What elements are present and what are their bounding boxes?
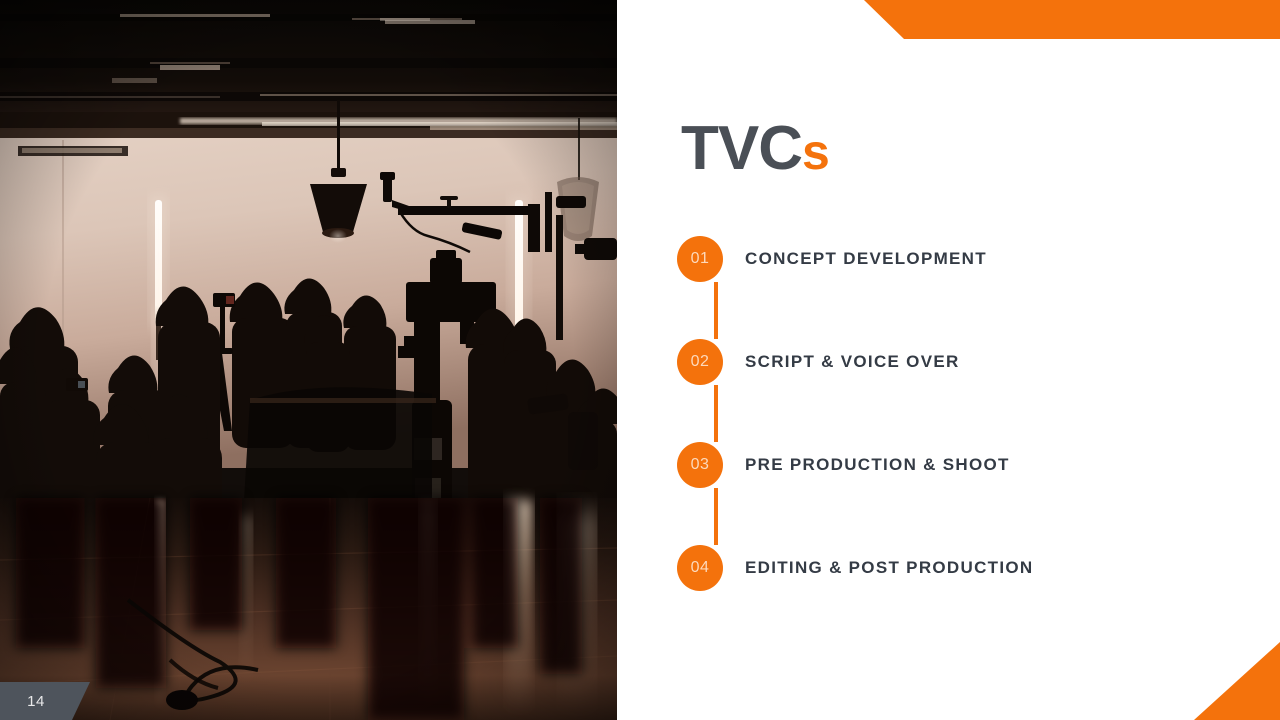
timeline-connector xyxy=(714,488,718,545)
timeline-item-label: SCRIPT & VOICE OVER xyxy=(745,352,960,372)
timeline-item-label: EDITING & POST PRODUCTION xyxy=(745,558,1033,578)
studio-photo xyxy=(0,0,617,720)
orange-angled-banner-icon xyxy=(846,0,1280,39)
timeline-number-badge: 03 xyxy=(677,442,723,488)
timeline-item-01[interactable]: 01 CONCEPT DEVELOPMENT xyxy=(677,236,1267,282)
timeline-item-03[interactable]: 03 PRE PRODUCTION & SHOOT xyxy=(677,442,1267,488)
content-panel: TVCs 01 CONCEPT DEVELOPMENT 02 SCRIPT & … xyxy=(617,0,1280,720)
timeline-connector xyxy=(714,282,718,339)
timeline-item-04[interactable]: 04 EDITING & POST PRODUCTION xyxy=(677,545,1267,591)
timeline-item-label: CONCEPT DEVELOPMENT xyxy=(745,249,987,269)
logo-accent-text: s xyxy=(802,124,829,180)
page-title: TVCs xyxy=(681,118,829,180)
slide-canvas: 14 TVCs 01 CONCEPT DEVELOPMENT 02 SCRIPT… xyxy=(0,0,1280,720)
timeline-connector xyxy=(714,385,718,442)
timeline-item-02[interactable]: 02 SCRIPT & VOICE OVER xyxy=(677,339,1267,385)
timeline-item-label: PRE PRODUCTION & SHOOT xyxy=(745,455,1010,475)
page-number: 14 xyxy=(0,682,72,720)
timeline-number-badge: 01 xyxy=(677,236,723,282)
timeline-number-badge: 02 xyxy=(677,339,723,385)
process-timeline: 01 CONCEPT DEVELOPMENT 02 SCRIPT & VOICE… xyxy=(677,236,1267,656)
timeline-number-badge: 04 xyxy=(677,545,723,591)
logo-main-text: TVC xyxy=(681,114,802,183)
studio-photo-illustration xyxy=(0,0,617,720)
